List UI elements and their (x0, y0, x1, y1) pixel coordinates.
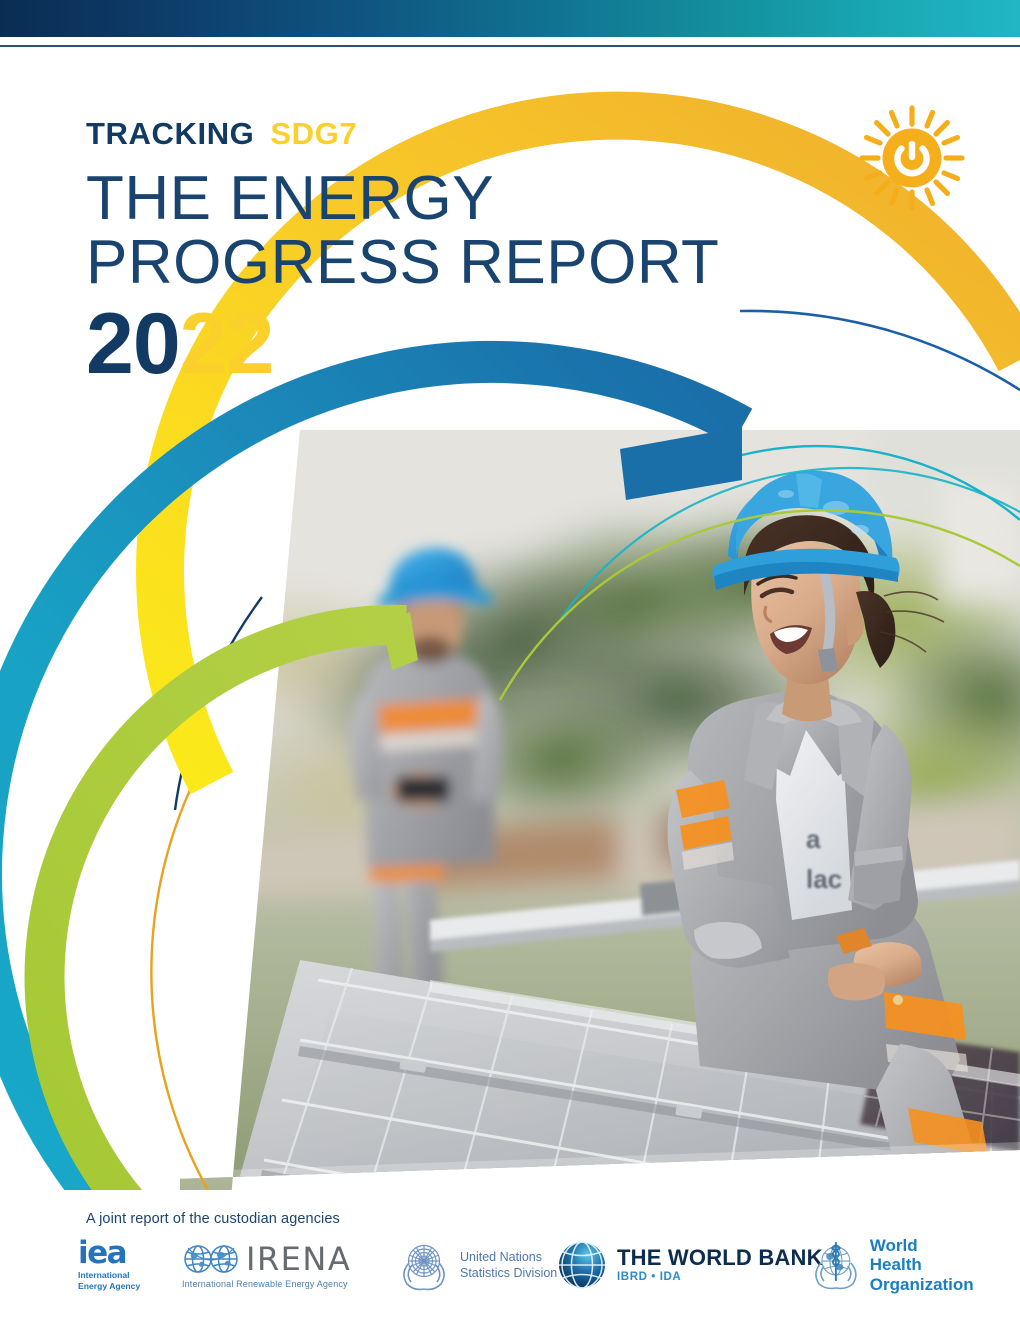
iea-subtitle-line-1: International (78, 1270, 140, 1280)
year-suffix: 22 (180, 296, 274, 392)
unsd-text-line-1: United Nations (460, 1249, 557, 1265)
report-year: 2022 (86, 301, 719, 387)
unsd-text: United Nations Statistics Division (460, 1249, 557, 1282)
title-line-2: PROGRESS REPORT (86, 231, 719, 295)
eyebrow-sdg7: SDG7 (270, 116, 357, 151)
who-text: World Health Organization (870, 1236, 974, 1293)
world-bank-subtitle: IBRD • IDA (617, 1271, 823, 1283)
world-bank-text: THE WORLD BANK IBRD • IDA (617, 1247, 823, 1283)
report-cover: a lac (0, 0, 1020, 1320)
logo-irena[interactable]: IRENA International Renewable Energy Age… (182, 1234, 351, 1296)
title-block: TRACKINGSDG7 THE ENERGY PROGRESS REPORT … (86, 118, 719, 387)
logo-world-bank[interactable]: THE WORLD BANK IBRD • IDA (555, 1234, 823, 1296)
irena-subtitle: International Renewable Energy Agency (182, 1279, 348, 1289)
custodian-agency-logos: iea International Energy Agency (78, 1234, 968, 1296)
unsd-text-line-2: Statistics Division (460, 1265, 557, 1281)
top-gradient-bar (0, 0, 1020, 37)
irena-top-row: IRENA (182, 1242, 351, 1276)
world-bank-globe-icon (555, 1238, 609, 1292)
year-prefix: 20 (86, 296, 180, 392)
logo-un-statistics-division[interactable]: United Nations Statistics Division (396, 1234, 557, 1296)
page-title: THE ENERGY PROGRESS REPORT (86, 167, 719, 295)
irena-twin-globe-icon (182, 1242, 240, 1276)
svg-text:a: a (806, 824, 821, 854)
svg-text:lac: lac (806, 864, 842, 894)
who-text-line-2: Organization (870, 1275, 974, 1294)
irena-wordmark: IRENA (246, 1243, 351, 1275)
who-text-line-1: World Health (870, 1236, 974, 1274)
top-divider-rule (0, 45, 1020, 47)
logo-iea[interactable]: iea International Energy Agency (78, 1234, 140, 1296)
title-line-1: THE ENERGY (86, 164, 494, 233)
who-emblem-icon (808, 1237, 864, 1293)
thin-gold-line-arc (151, 790, 208, 1190)
eyebrow-tracking: TRACKING (86, 116, 254, 151)
joint-report-note: A joint report of the custodian agencies (86, 1211, 340, 1227)
iea-subtitle-line-2: Energy Agency (78, 1281, 140, 1291)
sun-power-icon (858, 104, 966, 212)
world-bank-wordmark: THE WORLD BANK (617, 1247, 823, 1269)
un-emblem-icon (396, 1237, 452, 1293)
logo-world-health-organization[interactable]: World Health Organization (808, 1234, 974, 1296)
eyebrow-line: TRACKINGSDG7 (86, 118, 719, 149)
iea-subtitle: International Energy Agency (78, 1270, 140, 1291)
iea-wordmark-icon: iea (78, 1239, 126, 1268)
